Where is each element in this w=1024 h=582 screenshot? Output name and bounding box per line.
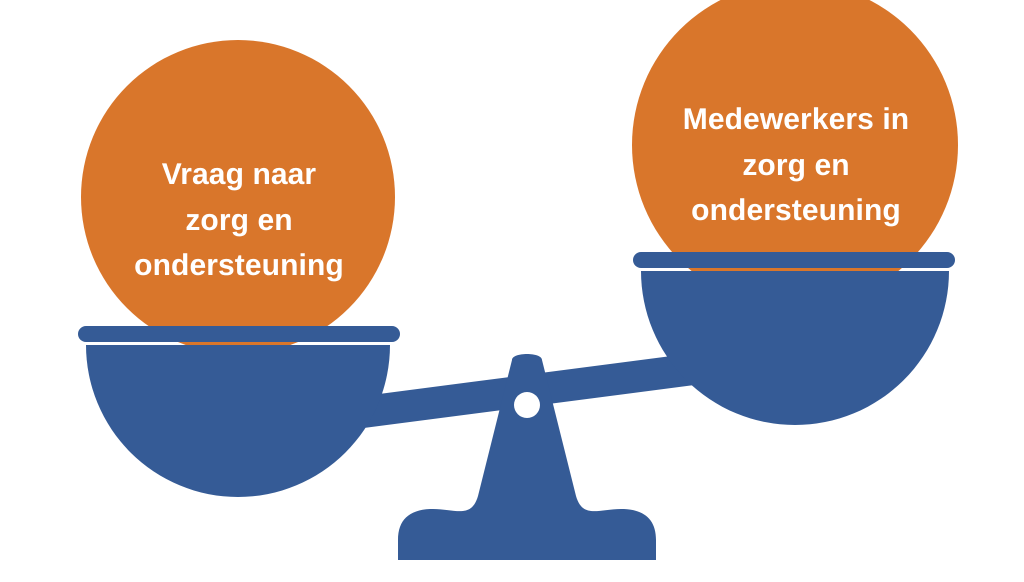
fulcrum-pivot-icon — [514, 392, 540, 418]
right-pan — [632, 0, 958, 425]
left-pan-bowl — [86, 345, 390, 497]
scale-infographic: Vraag naar zorg en ondersteuning Medewer… — [0, 0, 1024, 582]
right-pan-rim-bar — [633, 252, 955, 268]
left-pan-rim-bar — [78, 326, 400, 342]
left-pan — [78, 40, 400, 497]
left-weight-circle — [81, 40, 395, 354]
balance-scale-illustration — [0, 0, 1024, 582]
right-pan-bowl — [641, 271, 949, 425]
